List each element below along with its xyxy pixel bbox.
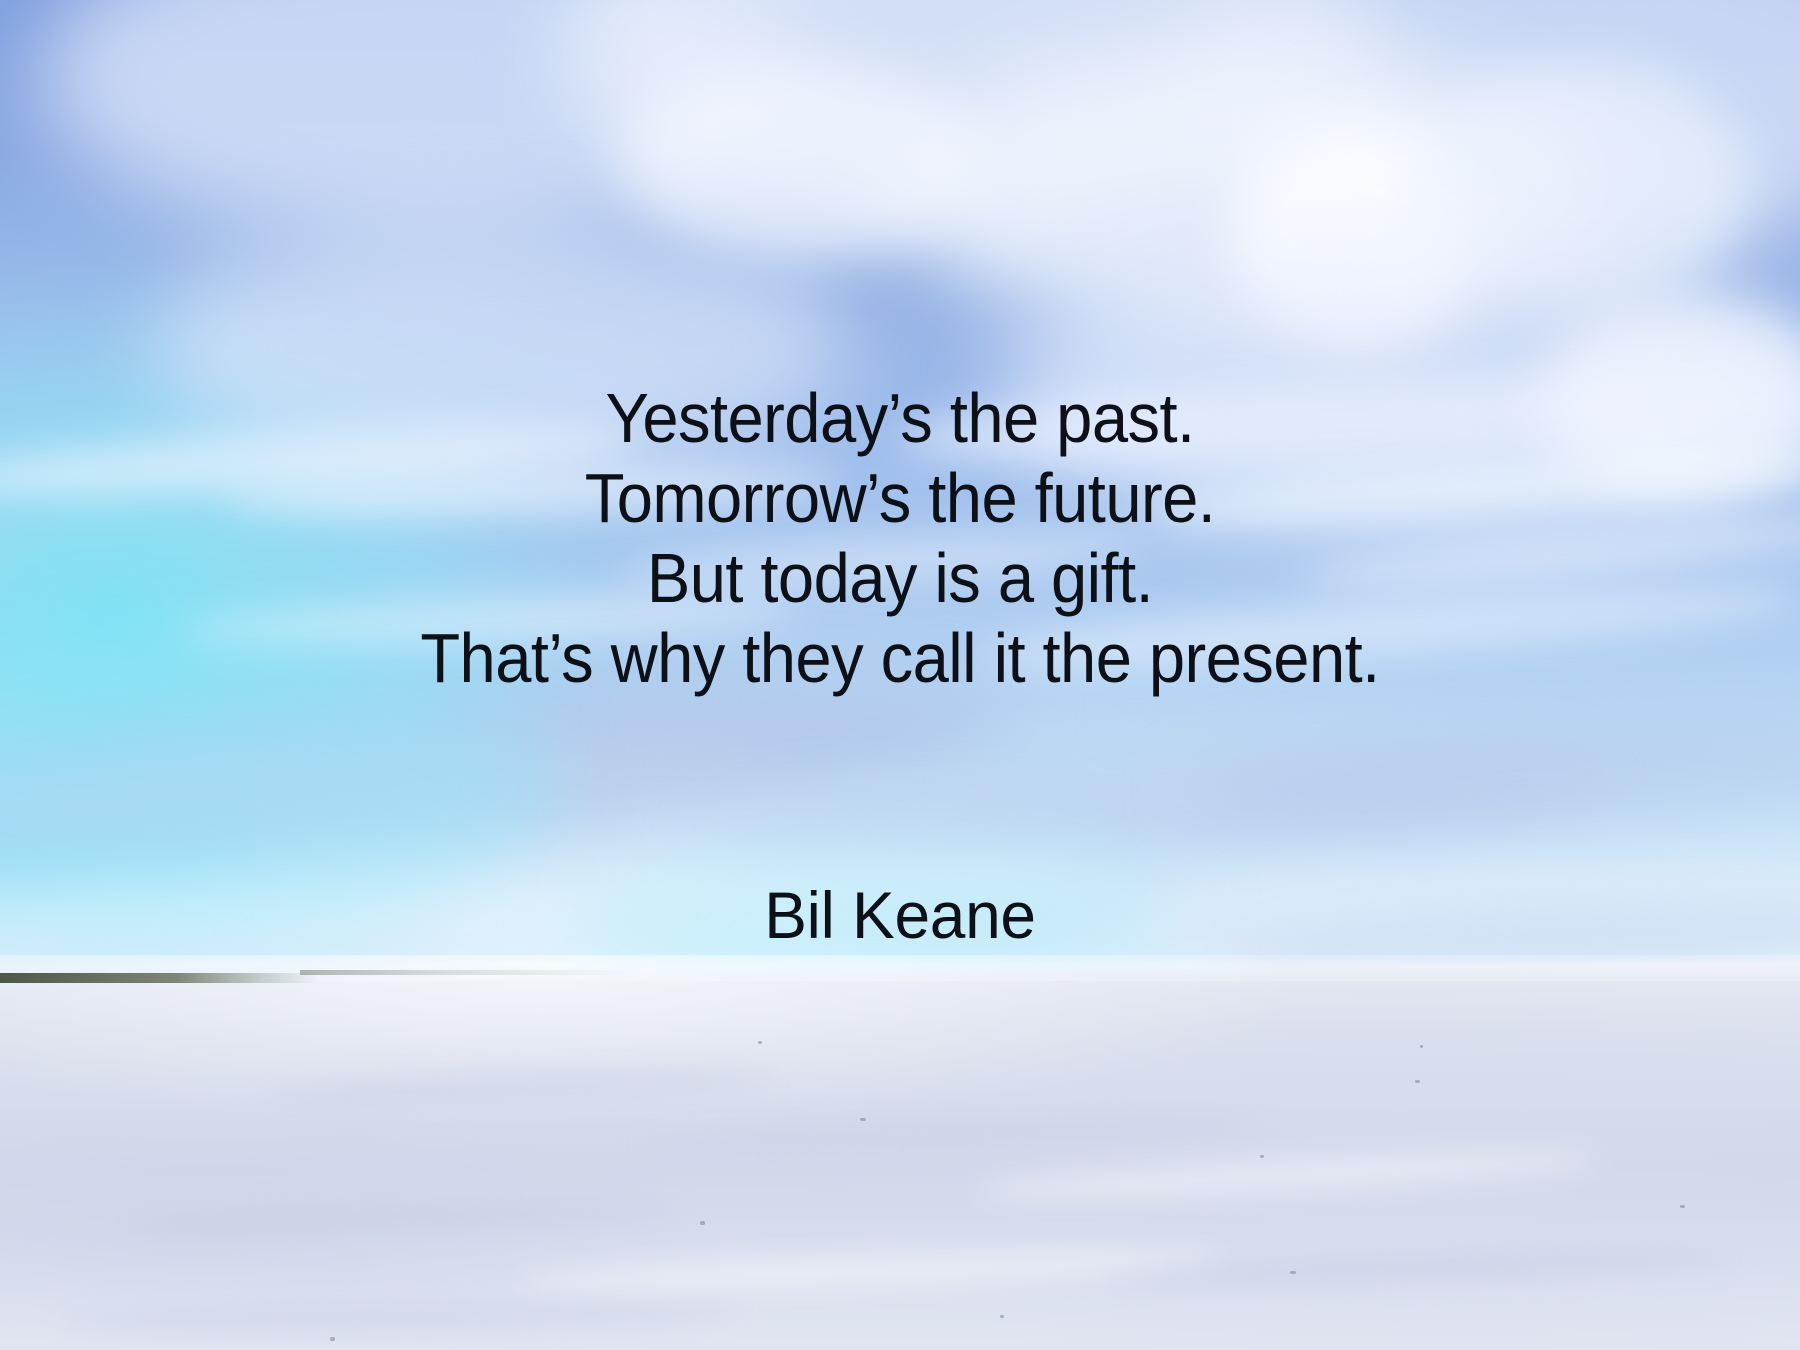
treeline-far-icon	[300, 970, 630, 975]
quote-image: Yesterday’s the past. Tomorrow’s the fut…	[0, 0, 1800, 1350]
treeline-icon	[0, 973, 320, 983]
sky-gradient	[0, 0, 1800, 1000]
snow-field-region	[0, 955, 1800, 1350]
sky-region	[0, 0, 1800, 1000]
snow-surface	[0, 955, 1800, 1350]
